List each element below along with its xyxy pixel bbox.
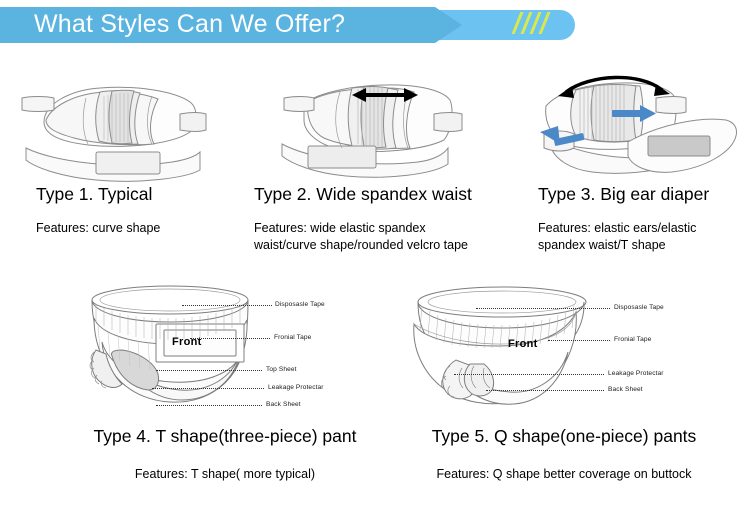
type1-title: Type 1. Typical bbox=[36, 184, 152, 205]
diaper-wide-waist-icon bbox=[248, 52, 516, 182]
page-title: What Styles Can We Offer? bbox=[34, 10, 345, 39]
callout-disposable-tape: Disposasle Tape bbox=[614, 304, 664, 311]
leader-line-disposable-tape bbox=[182, 305, 272, 306]
product-card-type4: Front Disposasle Tape Fronial Tape Top S… bbox=[60, 278, 390, 423]
type4-title: Type 4. T shape(three-piece) pant bbox=[60, 426, 390, 447]
leader-line-disposable-tape bbox=[476, 308, 610, 309]
type3-title: Type 3. Big ear diaper bbox=[538, 184, 709, 205]
type4-feature: Features: T shape( more typical) bbox=[60, 466, 390, 483]
pant-q-shape-icon: Front Disposasle Tape Fronial Tape Leaka… bbox=[390, 278, 748, 423]
type5-front-label: Front bbox=[508, 338, 538, 350]
product-card-type2: Type 2. Wide spandex waist Features: wid… bbox=[248, 52, 516, 182]
callout-back-sheet: Back Sheet bbox=[266, 401, 301, 408]
leader-line-frontal-tape bbox=[190, 338, 270, 339]
page-header: What Styles Can We Offer? bbox=[0, 7, 748, 43]
callout-leakage-protector: Leakage Protectar bbox=[268, 384, 324, 391]
type2-title: Type 2. Wide spandex waist bbox=[254, 184, 472, 205]
pant-t-shape-icon: Front Disposasle Tape Fronial Tape Top S… bbox=[60, 278, 390, 423]
leader-line-leakage-protector bbox=[152, 388, 264, 389]
product-card-type5: Front Disposasle Tape Fronial Tape Leaka… bbox=[390, 278, 748, 423]
type3-feature: Features: elastic ears/elastic spandex w… bbox=[538, 220, 696, 254]
leader-line-top-sheet bbox=[156, 370, 262, 371]
type1-feature: Features: curve shape bbox=[36, 220, 160, 237]
product-card-type1: Type 1. Typical Features: curve shape bbox=[0, 52, 250, 182]
diaper-typical-icon bbox=[0, 52, 250, 182]
type3-feature-line2: spandex waist/T shape bbox=[538, 237, 696, 254]
type3-feature-line1: Features: elastic ears/elastic bbox=[538, 220, 696, 237]
leader-line-back-sheet bbox=[156, 405, 262, 406]
type2-feature-line2: waist/curve shape/rounded velcro tape bbox=[254, 237, 468, 254]
type5-title: Type 5. Q shape(one-piece) pants bbox=[390, 426, 738, 447]
type2-feature: Features: wide elastic spandex waist/cur… bbox=[254, 220, 468, 254]
product-card-type3: Type 3. Big ear diaper Features: elastic… bbox=[516, 52, 748, 182]
callout-frontal-tape: Fronial Tape bbox=[274, 334, 311, 341]
callout-frontal-tape: Fronial Tape bbox=[614, 336, 651, 343]
diagonal-stripes-icon bbox=[512, 12, 560, 34]
callout-disposable-tape: Disposasle Tape bbox=[275, 301, 325, 308]
type5-feature: Features: Q shape better coverage on but… bbox=[390, 466, 738, 483]
leader-line-frontal-tape bbox=[548, 340, 610, 341]
leader-line-back-sheet bbox=[486, 390, 604, 391]
callout-leakage-protector: Leakage Protectar bbox=[608, 370, 664, 377]
callout-top-sheet: Top Sheet bbox=[266, 366, 297, 373]
leader-line-leakage-protector bbox=[454, 374, 604, 375]
type2-feature-line1: Features: wide elastic spandex bbox=[254, 220, 468, 237]
diaper-big-ear-icon bbox=[516, 52, 748, 182]
callout-back-sheet: Back Sheet bbox=[608, 386, 643, 393]
